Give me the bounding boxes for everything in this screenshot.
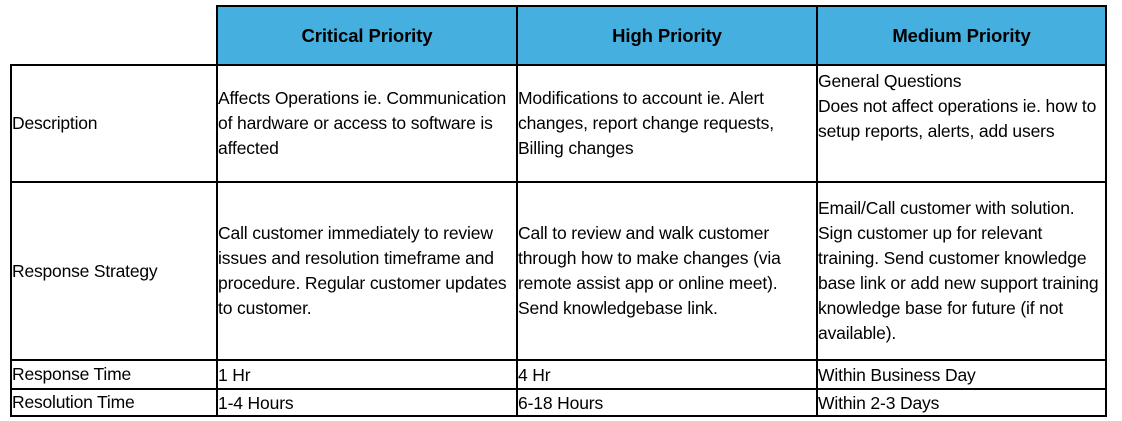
cell-text: Within Business Day xyxy=(818,364,1105,386)
cell-description-high: Modifications to account ie. Alert chang… xyxy=(517,65,817,182)
cell-response-strategy-critical: Call customer immediately to review issu… xyxy=(217,182,517,360)
cell-response-time-critical: 1 Hr xyxy=(217,360,517,389)
column-header-critical-priority: Critical Priority xyxy=(217,6,517,65)
table-row: Response Strategy Call customer immediat… xyxy=(11,182,1106,360)
cell-text: Call to review and walk customer through… xyxy=(518,221,816,321)
cell-text: 1 Hr xyxy=(218,364,516,386)
cell-response-strategy-high: Call to review and walk customer through… xyxy=(517,182,817,360)
priority-matrix-container: Critical Priority High Priority Medium P… xyxy=(10,5,1105,417)
cell-resolution-time-medium: Within 2-3 Days xyxy=(817,389,1106,416)
cell-text: Email/Call customer with solution. Sign … xyxy=(818,196,1105,346)
cell-text: 4 Hr xyxy=(518,364,816,386)
cell-text: Within 2-3 Days xyxy=(818,392,1105,414)
cell-text: General Questions Does not affect operat… xyxy=(818,69,1105,144)
cell-text: Modifications to account ie. Alert chang… xyxy=(518,86,816,161)
column-header-medium-priority: Medium Priority xyxy=(817,6,1106,65)
cell-response-time-medium: Within Business Day xyxy=(817,360,1106,389)
row-label-response-strategy: Response Strategy xyxy=(11,182,217,360)
cell-text: Affects Operations ie. Communication of … xyxy=(218,86,516,161)
cell-resolution-time-critical: 1-4 Hours xyxy=(217,389,517,416)
cell-text: Call customer immediately to review issu… xyxy=(218,221,516,321)
cell-description-medium: General Questions Does not affect operat… xyxy=(817,65,1106,182)
row-label-resolution-time: Resolution Time xyxy=(11,389,217,416)
priority-sla-table: Critical Priority High Priority Medium P… xyxy=(10,5,1107,417)
cell-resolution-time-high: 6-18 Hours xyxy=(517,389,817,416)
table-header-row: Critical Priority High Priority Medium P… xyxy=(11,6,1106,65)
cell-response-time-high: 4 Hr xyxy=(517,360,817,389)
cell-response-strategy-medium: Email/Call customer with solution. Sign … xyxy=(817,182,1106,360)
row-label-response-time: Response Time xyxy=(11,360,217,389)
table-row: Resolution Time 1-4 Hours 6-18 Hours Wit… xyxy=(11,389,1106,416)
row-label-description: Description xyxy=(11,65,217,182)
table-row: Response Time 1 Hr 4 Hr Within Business … xyxy=(11,360,1106,389)
header-corner-cell xyxy=(11,6,217,65)
column-header-high-priority: High Priority xyxy=(517,6,817,65)
table-row: Description Affects Operations ie. Commu… xyxy=(11,65,1106,182)
cell-description-critical: Affects Operations ie. Communication of … xyxy=(217,65,517,182)
cell-text: 6-18 Hours xyxy=(518,392,816,414)
cell-text: 1-4 Hours xyxy=(218,392,516,414)
